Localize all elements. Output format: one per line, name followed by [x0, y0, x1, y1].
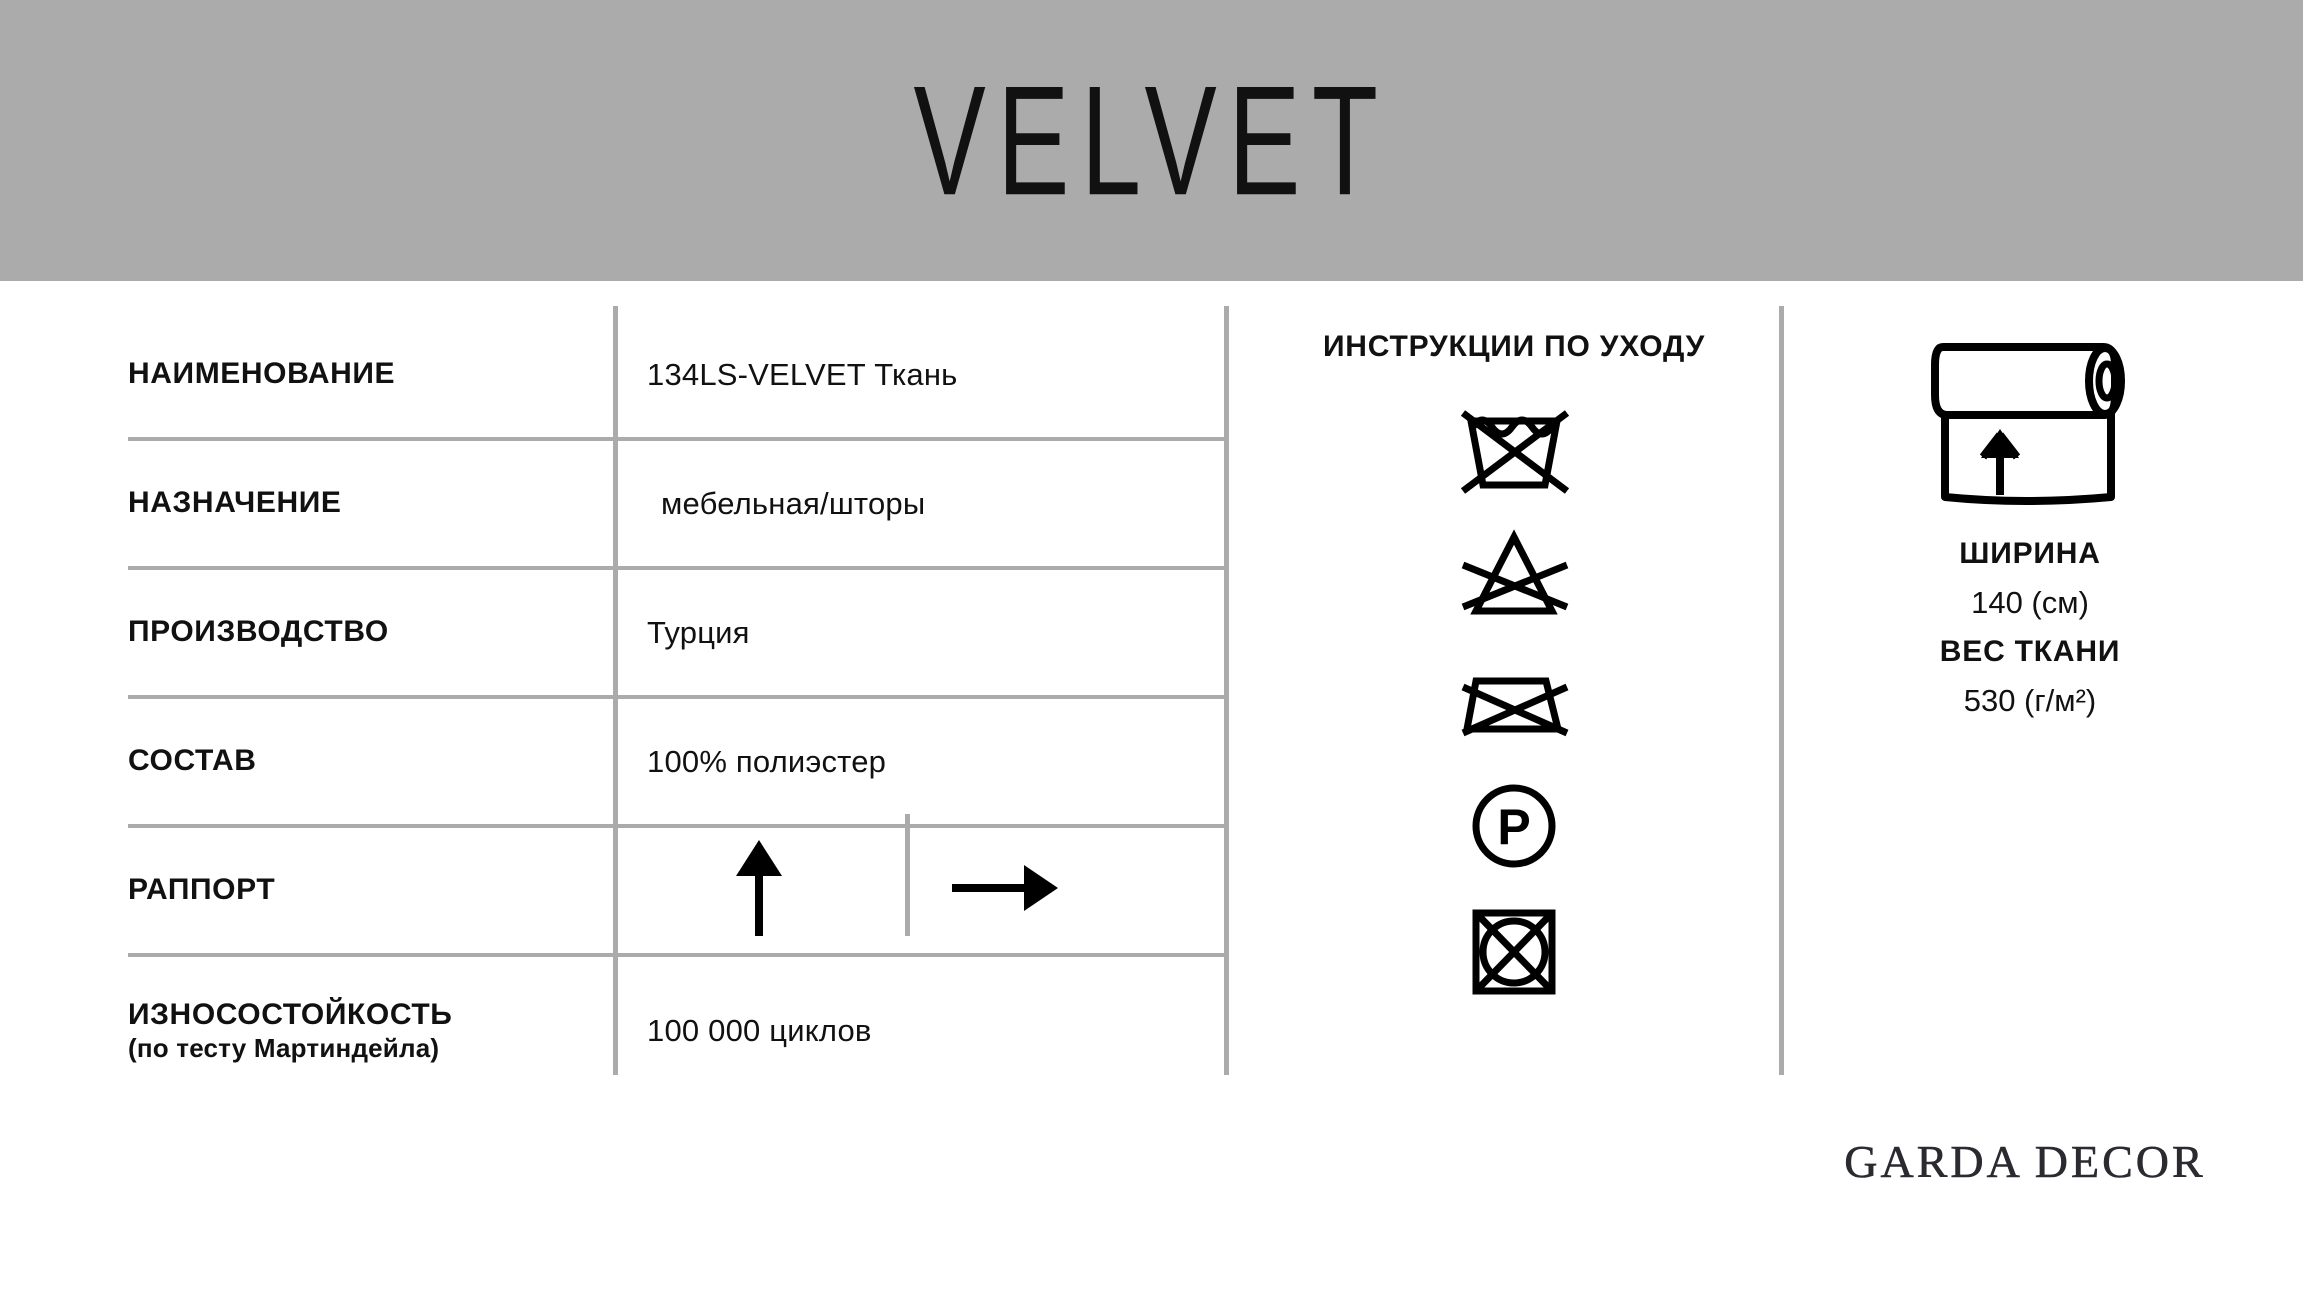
fabric-roll-icon: [1800, 325, 2260, 515]
table-row: НАИМЕНОВАНИЕ 134LS-VELVET Ткань: [128, 312, 1228, 441]
repeat-vertical-cell: [613, 838, 905, 943]
spec-value-durability: 100 000 циклов: [613, 1013, 1228, 1049]
spec-label-composition: СОСТАВ: [128, 743, 613, 780]
table-row: ИЗНОСОСТОЙКОСТЬ (по тесту Мартиндейла) 1…: [128, 957, 1228, 1105]
spec-label-name: НАИМЕНОВАНИЕ: [128, 356, 613, 393]
svg-text:P: P: [1497, 799, 1530, 855]
spec-value-composition: 100% полиэстер: [613, 744, 1228, 780]
spec-label-purpose: НАЗНАЧЕНИЕ: [128, 485, 613, 522]
weight-value: 530 (г/м²): [1800, 683, 2260, 719]
spec-value-name: 134LS-VELVET Ткань: [613, 357, 1228, 393]
weight-label: ВЕС ТКАНИ: [1800, 635, 2260, 669]
brand-logo: GARDA DECOR: [1790, 1135, 2260, 1188]
repeat-horizontal-cell: [905, 859, 1228, 922]
do-not-iron-icon: [1439, 646, 1589, 754]
fabric-spec-sheet: VELVET НАИМЕНОВАНИЕ 134LS-VELVET Ткань Н…: [0, 0, 2303, 1299]
care-instructions-title: ИНСТРУКЦИИ ПО УХОДУ: [1279, 330, 1749, 364]
care-symbol-list: P: [1279, 394, 1749, 1006]
do-not-wash-icon: [1439, 394, 1589, 502]
dry-clean-p-icon: P: [1439, 772, 1589, 880]
table-row: СОСТАВ 100% полиэстер: [128, 699, 1228, 828]
care-instructions-panel: ИНСТРУКЦИИ ПО УХОДУ: [1279, 330, 1749, 1006]
arrow-right-icon: [950, 859, 1060, 922]
spec-label-durability-sub: (по тесту Мартиндейла): [128, 1033, 603, 1065]
arrow-up-icon: [730, 838, 788, 943]
table-row: НАЗНАЧЕНИЕ мебельная/шторы: [128, 441, 1228, 570]
roll-dimensions-panel: ШИРИНА 140 (см) ВЕС ТКАНИ 530 (г/м²): [1800, 325, 2260, 719]
width-value: 140 (см): [1800, 585, 2260, 621]
table-row: ПРОИЗВОДСТВО Турция: [128, 570, 1228, 699]
spec-label-durability-main: ИЗНОСОСТОЙКОСТЬ: [128, 998, 452, 1031]
spec-label-durability: ИЗНОСОСТОЙКОСТЬ (по тесту Мартиндейла): [128, 997, 613, 1065]
spec-label-repeat: РАППОРТ: [128, 872, 613, 909]
page-title: VELVET: [207, 0, 2095, 306]
specification-table: НАИМЕНОВАНИЕ 134LS-VELVET Ткань НАЗНАЧЕН…: [128, 312, 1228, 1105]
spec-value-production: Турция: [613, 615, 1228, 651]
spec-label-production: ПРОИЗВОДСТВО: [128, 614, 613, 651]
roll-measurements: ШИРИНА 140 (см) ВЕС ТКАНИ 530 (г/м²): [1800, 537, 2260, 719]
table-row: РАППОРТ: [128, 828, 1228, 957]
width-label: ШИРИНА: [1800, 537, 2260, 571]
care-panel-right-divider: [1779, 306, 1784, 1075]
do-not-tumble-dry-icon: [1439, 898, 1589, 1006]
do-not-bleach-icon: [1439, 520, 1589, 628]
spec-value-purpose: мебельная/шторы: [613, 486, 1228, 522]
